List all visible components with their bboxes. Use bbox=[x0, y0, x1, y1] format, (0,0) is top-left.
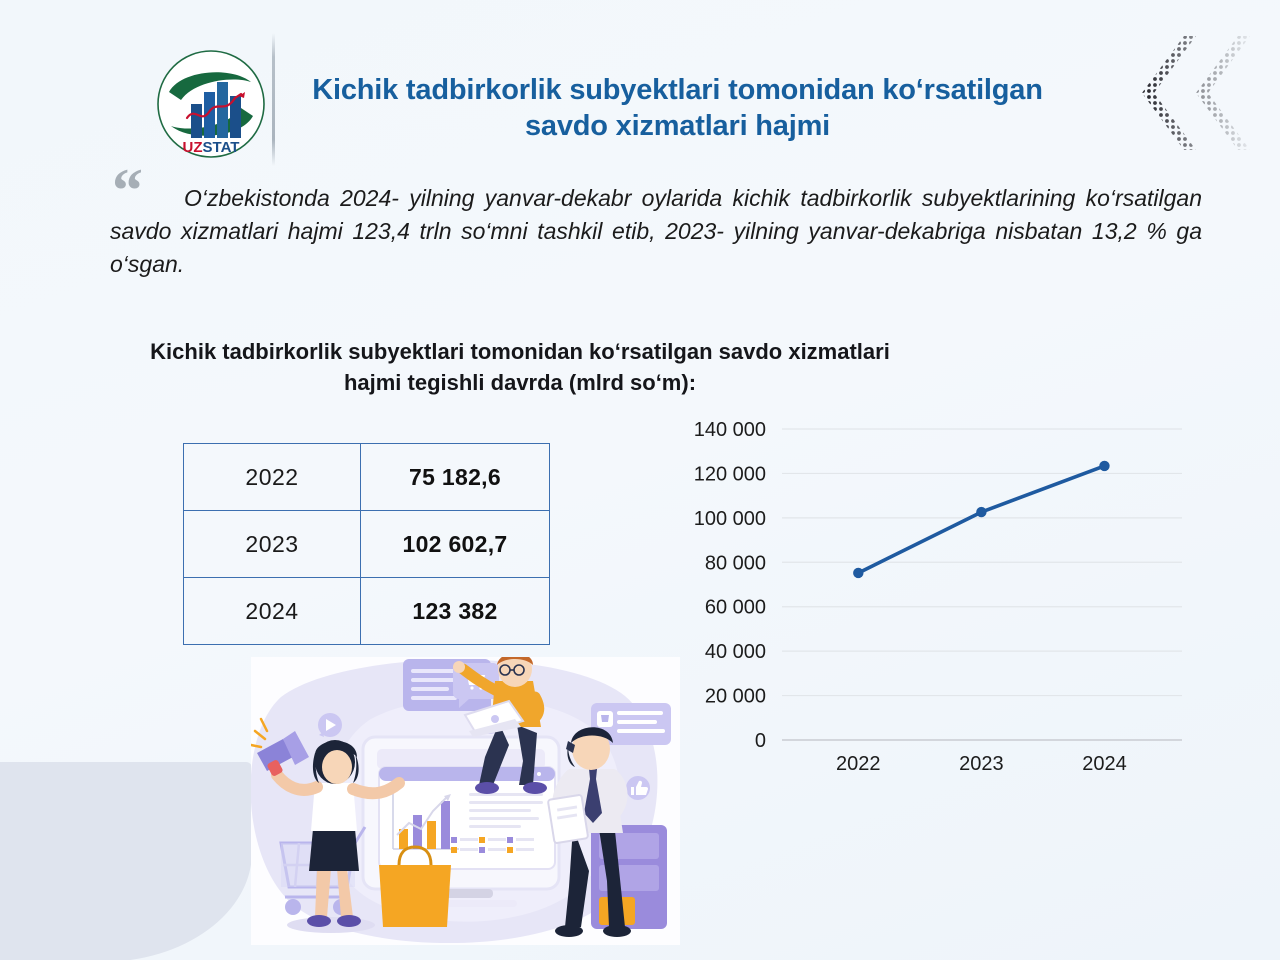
x-axis-tick-label: 2022 bbox=[836, 753, 881, 775]
table-cell-value: 123 382 bbox=[361, 578, 550, 645]
double-chevron-left-icon bbox=[1134, 28, 1252, 158]
table-row: 2024 123 382 bbox=[184, 578, 550, 645]
x-axis-tick-label: 2024 bbox=[1082, 753, 1127, 775]
chart-data-point bbox=[853, 568, 863, 578]
y-axis-tick-label: 120 000 bbox=[694, 463, 766, 485]
logo-stat-text: STAT bbox=[203, 139, 240, 156]
header: UZSTAT Kichik tadbirkorlik subyektlari t… bbox=[0, 0, 1280, 175]
table-cell-year: 2024 bbox=[184, 578, 361, 645]
table-cell-year: 2023 bbox=[184, 511, 361, 578]
table-cell-year: 2022 bbox=[184, 444, 361, 511]
page-title: Kichik tadbirkorlik subyektlari tomonida… bbox=[290, 72, 1065, 144]
infographic-page: UZSTAT Kichik tadbirkorlik subyektlari t… bbox=[0, 0, 1280, 960]
chart-series-line bbox=[858, 466, 1104, 573]
x-axis-tick-label: 2023 bbox=[959, 753, 1004, 775]
svg-text:UZSTAT: UZSTAT bbox=[183, 139, 240, 156]
table-cell-value: 75 182,6 bbox=[361, 444, 550, 511]
table-row: 2022 75 182,6 bbox=[184, 444, 550, 511]
uzstat-logo: UZSTAT bbox=[155, 48, 267, 160]
chart-data-point bbox=[976, 507, 986, 517]
ecommerce-analytics-illustration bbox=[251, 657, 680, 945]
y-axis-tick-label: 0 bbox=[755, 730, 766, 752]
data-table: 2022 75 182,6 2023 102 602,7 2024 123 38… bbox=[183, 443, 550, 645]
logo-uz-text: UZ bbox=[183, 139, 203, 156]
chart-section-title: Kichik tadbirkorlik subyektlari tomonida… bbox=[150, 336, 890, 398]
intro-paragraph: O‘zbekistonda 2024- yilning yanvar-dekab… bbox=[110, 182, 1202, 281]
y-axis-tick-label: 80 000 bbox=[705, 552, 766, 574]
line-chart: 140 000120 000100 00080 00060 00040 0002… bbox=[660, 415, 1200, 800]
y-axis-tick-label: 140 000 bbox=[694, 419, 766, 441]
table-cell-value: 102 602,7 bbox=[361, 511, 550, 578]
y-axis-tick-label: 40 000 bbox=[705, 641, 766, 663]
y-axis-tick-label: 100 000 bbox=[694, 508, 766, 530]
y-axis-tick-label: 20 000 bbox=[705, 686, 766, 708]
header-divider bbox=[272, 33, 275, 166]
decorative-blob-bottom-left bbox=[0, 762, 252, 960]
chart-data-point bbox=[1099, 461, 1109, 471]
y-axis-tick-label: 60 000 bbox=[705, 597, 766, 619]
table-row: 2023 102 602,7 bbox=[184, 511, 550, 578]
